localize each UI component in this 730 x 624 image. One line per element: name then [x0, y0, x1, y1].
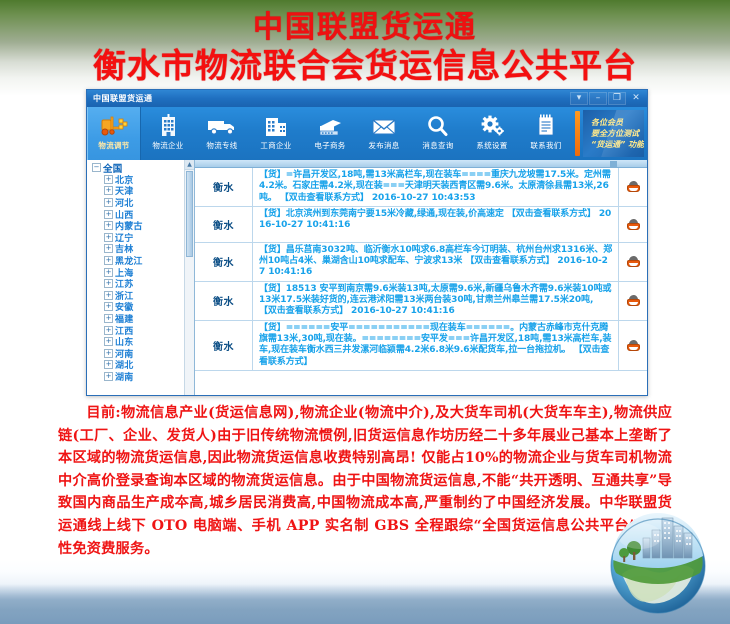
- contact-icon[interactable]: [627, 340, 640, 351]
- tree-node-hebei[interactable]: + 河北: [90, 197, 194, 209]
- tree-node-jiangxi[interactable]: + 江西: [90, 324, 194, 336]
- expand-icon[interactable]: +: [104, 349, 113, 358]
- toolbar: 物流调节 物流企业: [87, 107, 647, 160]
- application-window: 中国联盟货运通 ▾ – ❐ ✕ 物流调节: [86, 89, 648, 396]
- row-message[interactable]: 【货】=许昌开发区,18吨,需13米高栏车,现在装车====重庆九龙坡需17.5…: [253, 168, 619, 206]
- description-paragraph: 目前:物流信息产业(货运信息网),物流企业(物流中介),及大货车司机(大货车车主…: [58, 402, 672, 560]
- window-body: − 全国 + 北京 + 天津 + 河北 + 山西: [87, 160, 647, 396]
- expand-icon[interactable]: +: [104, 268, 113, 277]
- window-titlebar: 中国联盟货运通 ▾ – ❐ ✕: [87, 90, 647, 107]
- tree-node-beijing[interactable]: + 北京: [90, 174, 194, 186]
- toolbar-button-label: 物流调节: [98, 141, 129, 151]
- expand-icon[interactable]: +: [104, 256, 113, 265]
- tree-node-shanghai[interactable]: + 上海: [90, 266, 194, 278]
- tree-node-neimenggu[interactable]: + 内蒙古: [90, 220, 194, 232]
- toolbar-divider: [575, 111, 580, 156]
- row-region: 衡水: [195, 282, 253, 320]
- window-title: 中国联盟货运通: [93, 93, 153, 104]
- tree-node-fujian[interactable]: + 福建: [90, 313, 194, 325]
- toolbar-button-xiaoxichaxun[interactable]: 消息查询: [411, 107, 465, 160]
- expand-icon[interactable]: +: [104, 175, 113, 184]
- expand-icon[interactable]: +: [104, 302, 113, 311]
- sidebar-scrollbar[interactable]: ▲: [184, 160, 194, 396]
- tree-node-quanguo[interactable]: − 全国: [90, 162, 194, 174]
- tree-node-henan[interactable]: + 河南: [90, 348, 194, 360]
- row-region: 衡水: [195, 243, 253, 281]
- region-tree: − 全国 + 北京 + 天津 + 河北 + 山西: [87, 160, 194, 382]
- toolbar-button-label: 工商企业: [260, 141, 291, 151]
- tree-node-jilin[interactable]: + 吉林: [90, 243, 194, 255]
- toolbar-button-label: 消息查询: [422, 141, 453, 151]
- promo-line3: “货运通” 功能!: [591, 139, 644, 150]
- contact-icon[interactable]: [627, 219, 640, 230]
- region-tree-sidebar: − 全国 + 北京 + 天津 + 河北 + 山西: [87, 160, 195, 396]
- page-title-line1: 中国联盟货运通: [0, 10, 730, 46]
- page-title: 中国联盟货运通 衡水市物流联合会货运信息公共平台: [0, 10, 730, 86]
- promo-line2: 要全方位测试: [591, 128, 644, 139]
- contact-icon[interactable]: [627, 295, 640, 306]
- scroll-up-icon[interactable]: ▲: [185, 160, 194, 170]
- expand-icon[interactable]: +: [104, 244, 113, 253]
- row-message[interactable]: 【货】18513 安平到南京需9.6米装13吨,太原需9.6米,新疆乌鲁木齐需9…: [253, 282, 619, 320]
- close-icon[interactable]: ✕: [627, 92, 645, 105]
- toolbar-button-dianzishangwu[interactable]: 电子商务: [303, 107, 357, 160]
- table-row[interactable]: 衡水 【货】18513 安平到南京需9.6米装13吨,太原需9.6米,新疆乌鲁木…: [195, 282, 647, 321]
- toolbar-button-label: 联系我们: [530, 141, 561, 151]
- expand-icon[interactable]: +: [104, 221, 113, 230]
- expand-icon[interactable]: +: [104, 210, 113, 219]
- row-message[interactable]: 【货】======安平===========现在装车======。内蒙古赤峰市克…: [253, 321, 619, 370]
- column-resize-handle[interactable]: [610, 161, 617, 167]
- row-action[interactable]: [619, 282, 647, 320]
- toolbar-button-lianxiwomen[interactable]: 联系我们: [519, 107, 573, 160]
- expand-icon[interactable]: +: [104, 372, 113, 381]
- contact-icon[interactable]: [627, 181, 640, 192]
- tree-node-tianjin[interactable]: + 天津: [90, 185, 194, 197]
- collapse-icon[interactable]: −: [92, 163, 101, 172]
- maximize-icon[interactable]: ❐: [608, 92, 626, 105]
- tree-node-shandong[interactable]: + 山东: [90, 336, 194, 348]
- tree-node-label: 湖南: [115, 370, 133, 383]
- row-region: 衡水: [195, 321, 253, 370]
- truck-icon: [206, 111, 238, 141]
- envelope-icon: [369, 111, 399, 141]
- gear-icon: [477, 111, 507, 141]
- row-action[interactable]: [619, 207, 647, 242]
- globe-graphic: [600, 500, 716, 618]
- promo-banner[interactable]: 各位会员 要全方位测试 “货运通” 功能!: [583, 110, 644, 157]
- toolbar-button-wuliutiaojie[interactable]: 物流调节: [87, 107, 141, 160]
- row-region: 衡水: [195, 168, 253, 206]
- toolbar-button-label: 系统设置: [476, 141, 507, 151]
- row-region: 衡水: [195, 207, 253, 242]
- row-action[interactable]: [619, 243, 647, 281]
- toolbar-button-gongshangqiye[interactable]: 工商企业: [249, 107, 303, 160]
- message-list-area: 衡水 【货】=许昌开发区,18吨,需13米高栏车,现在装车====重庆九龙坡需1…: [195, 160, 647, 396]
- row-message[interactable]: 【货】昌乐莒南3032吨、临沂衡水10吨求6.8高栏车今订明装、杭州台州求131…: [253, 243, 619, 281]
- magnifier-icon: [424, 111, 452, 141]
- toolbar-button-label: 发布消息: [368, 141, 399, 151]
- page-title-line2: 衡水市物流联合会货运信息公共平台: [0, 46, 730, 86]
- expand-icon[interactable]: +: [104, 326, 113, 335]
- expand-icon[interactable]: +: [104, 198, 113, 207]
- toolbar-button-label: 电子商务: [314, 141, 345, 151]
- table-row[interactable]: 衡水 【货】昌乐莒南3032吨、临沂衡水10吨求6.8高栏车今订明装、杭州台州求…: [195, 243, 647, 282]
- tree-node-anhui[interactable]: + 安徽: [90, 301, 194, 313]
- tree-node-jiangsu[interactable]: + 江苏: [90, 278, 194, 290]
- toolbar-button-wuliuqiye[interactable]: 物流企业: [141, 107, 195, 160]
- forklift-icon: [99, 111, 129, 141]
- toolbar-button-label: 物流专线: [206, 141, 237, 151]
- scrollbar-thumb[interactable]: [186, 171, 193, 257]
- expand-icon[interactable]: +: [104, 314, 113, 323]
- office-icon: [262, 111, 290, 141]
- tree-node-heilongjiang[interactable]: + 黑龙江: [90, 255, 194, 267]
- description-text: 目前:物流信息产业(货运信息网),物流企业(物流中介),及大货车司机(大货车车主…: [58, 402, 672, 560]
- toolbar-button-wuliuzhuanxian[interactable]: 物流专线: [195, 107, 249, 160]
- contact-icon[interactable]: [627, 256, 640, 267]
- toolbar-button-label: 物流企业: [152, 141, 183, 151]
- table-row[interactable]: 衡水 【货】北京滨州到东莞南宁要15米冷藏,绿通,现在装,价高速定 【双击查看联…: [195, 207, 647, 243]
- document-icon: [533, 111, 559, 141]
- row-action[interactable]: [619, 321, 647, 370]
- expand-icon[interactable]: +: [104, 360, 113, 369]
- row-action[interactable]: [619, 168, 647, 206]
- toolbar-button-fabuxiaoxi[interactable]: 发布消息: [357, 107, 411, 160]
- expand-icon[interactable]: +: [104, 337, 113, 346]
- message-list-header: [195, 160, 647, 168]
- tree-node-liaoning[interactable]: + 辽宁: [90, 232, 194, 244]
- promo-line1: 各位会员: [591, 117, 644, 128]
- message-list: 衡水 【货】=许昌开发区,18吨,需13米高栏车,现在装车====重庆九龙坡需1…: [195, 168, 647, 396]
- toolbar-button-xitongshezhi[interactable]: 系统设置: [465, 107, 519, 160]
- building-icon: [155, 111, 181, 141]
- dropdown-icon[interactable]: ▾: [570, 92, 588, 105]
- tree-node-hunan[interactable]: + 湖南: [90, 371, 194, 383]
- minimize-icon[interactable]: –: [589, 92, 607, 105]
- tree-node-hubei[interactable]: + 湖北: [90, 359, 194, 371]
- row-message[interactable]: 【货】北京滨州到东莞南宁要15米冷藏,绿通,现在装,价高速定 【双击查看联系方式…: [253, 207, 619, 242]
- expand-icon[interactable]: +: [104, 291, 113, 300]
- window-controls: ▾ – ❐ ✕: [570, 92, 645, 105]
- table-row[interactable]: 衡水 【货】======安平===========现在装车======。内蒙古赤…: [195, 321, 647, 371]
- expand-icon[interactable]: +: [104, 186, 113, 195]
- expand-icon[interactable]: +: [104, 279, 113, 288]
- cash-register-icon: [315, 111, 345, 141]
- expand-icon[interactable]: +: [104, 233, 113, 242]
- tree-node-shanxi[interactable]: + 山西: [90, 208, 194, 220]
- tree-node-zhejiang[interactable]: + 浙江: [90, 290, 194, 302]
- table-row[interactable]: 衡水 【货】=许昌开发区,18吨,需13米高栏车,现在装车====重庆九龙坡需1…: [195, 168, 647, 207]
